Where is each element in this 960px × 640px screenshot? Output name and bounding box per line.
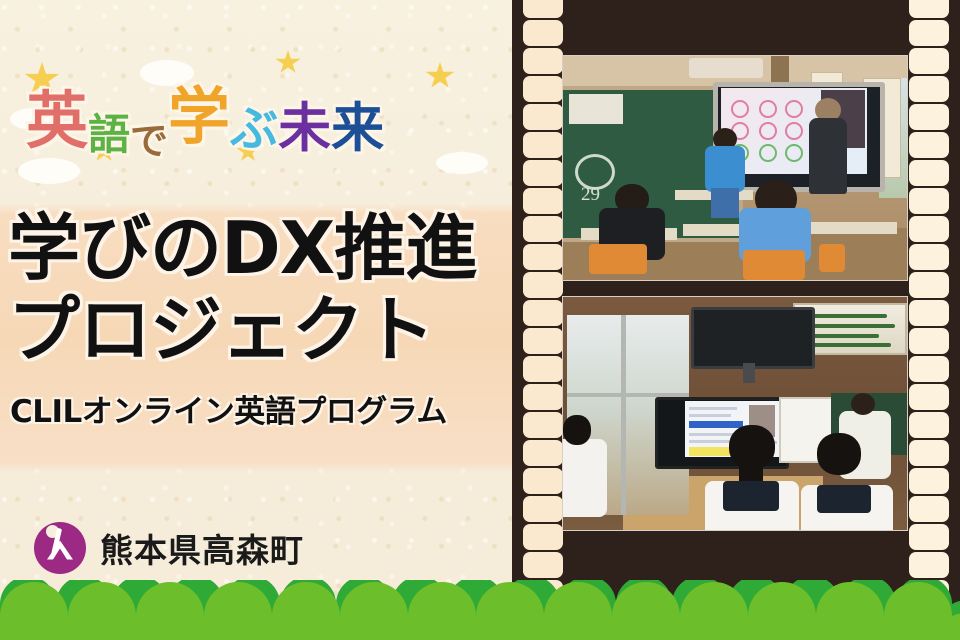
film-sprocket-hole [909, 188, 949, 214]
film-sprocket-hole [909, 328, 949, 354]
film-sprocket-hole [909, 496, 949, 522]
film-sprocket-hole [909, 160, 949, 186]
film-sprocket-hole [909, 468, 949, 494]
film-sprocket-hole [909, 552, 949, 578]
cloud-bottom-left-icon [18, 158, 80, 184]
film-sprocket-hole [523, 132, 563, 158]
film-sprocket-hole [909, 76, 949, 102]
municipality-footer: 熊本県高森町 [34, 522, 304, 574]
film-sprocket-hole [909, 440, 949, 466]
film-sprocket-hole [523, 412, 563, 438]
headline-char-3: で [130, 108, 168, 174]
film-sprocket-hole [909, 48, 949, 74]
film-sprocket-hole [523, 76, 563, 102]
film-sprocket-hole [909, 244, 949, 270]
grass-hills-icon [0, 580, 960, 640]
cloud-right-icon [436, 152, 488, 174]
takamori-town-emblem-icon [34, 522, 86, 574]
headline-char-6: 未 [278, 96, 331, 162]
film-sprocket-hole [523, 272, 563, 298]
page-subtitle: CLILオンライン英語プログラム [10, 386, 447, 431]
film-sprocket-hole [523, 468, 563, 494]
photo-junior-high-classroom [562, 296, 908, 531]
page-title-line2: プロジェクト [8, 292, 434, 368]
film-sprocket-hole [523, 300, 563, 326]
headline-kanji: 英語で学ぶ未来 [26, 88, 384, 154]
headline-char-5: ぶ [230, 96, 278, 162]
film-sprocket-hole [523, 328, 563, 354]
page-title-line1: 学びのDX推進 [8, 210, 476, 286]
film-sprocket-hole [909, 132, 949, 158]
film-sprocket-hole [909, 356, 949, 382]
film-sprocket-hole [523, 188, 563, 214]
film-sprocket-hole [909, 524, 949, 550]
film-sprocket-hole [523, 244, 563, 270]
municipality-label: 熊本県高森町 [100, 524, 304, 572]
photo-elementary-classroom: 29 [562, 55, 908, 281]
poster-canvas: 英語で学ぶ未来 学びのDX推進 プロジェクト CLILオンライン英語プログラム … [0, 0, 960, 640]
film-sprocket-hole [523, 384, 563, 410]
headline-char-2: 語 [88, 102, 130, 168]
headline-char-1: 英 [26, 88, 88, 154]
film-sprocket-hole [523, 440, 563, 466]
film-sprocket-hole [909, 216, 949, 242]
film-sprocket-hole [523, 48, 563, 74]
film-sprocket-hole [523, 20, 563, 46]
headline-char-4: 学 [168, 84, 230, 150]
film-sprocket-hole [523, 524, 563, 550]
film-sprocket-hole [523, 216, 563, 242]
film-sprocket-hole [523, 0, 563, 18]
film-sprocket-hole [909, 300, 949, 326]
film-sprocket-hole [909, 104, 949, 130]
grass-footer [0, 580, 960, 640]
film-sprocket-hole [909, 0, 949, 18]
film-sprocket-hole [523, 496, 563, 522]
film-sprocket-hole [523, 552, 563, 578]
film-sprocket-hole [523, 160, 563, 186]
film-sprocket-hole [909, 20, 949, 46]
film-sprocket-hole [523, 356, 563, 382]
film-sprocket-hole [909, 412, 949, 438]
film-sprocket-hole [523, 104, 563, 130]
film-sprocket-hole [909, 384, 949, 410]
film-sprocket-hole [909, 272, 949, 298]
headline-char-7: 来 [331, 96, 384, 162]
